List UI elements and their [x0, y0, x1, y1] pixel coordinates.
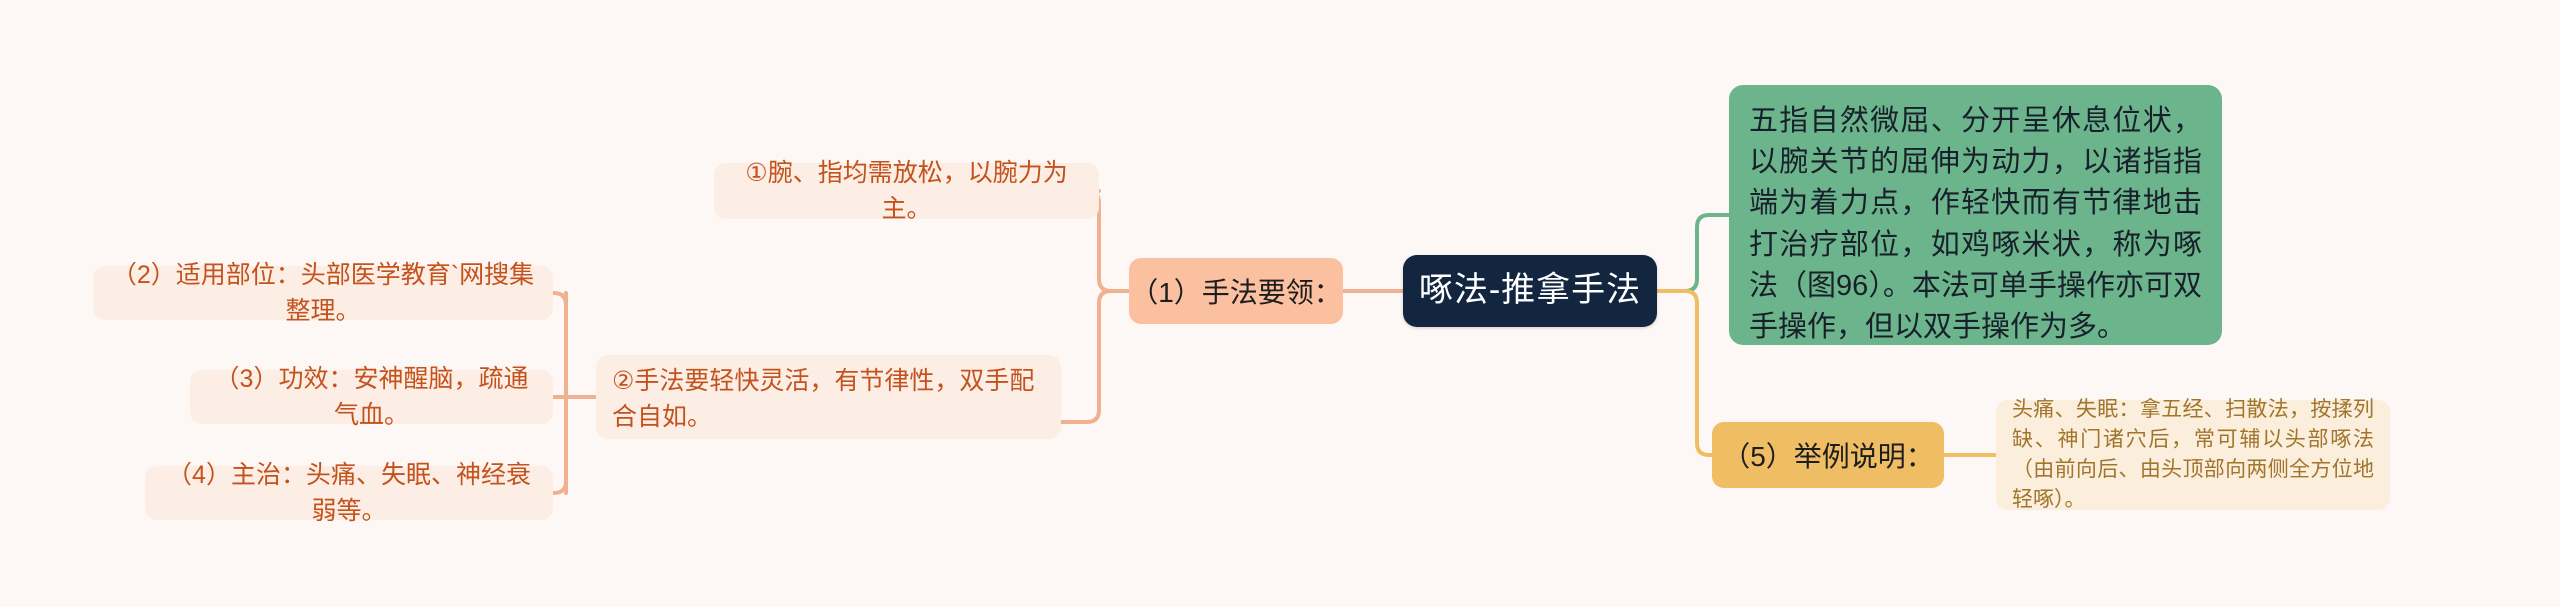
shoufa-yaoling-node[interactable]: （1）手法要领：: [1129, 258, 1343, 324]
mindmap-canvas: 啄法-推拿手法 五指自然微屈、分开呈休息位状，以腕关节的屈伸为动力，以诸指指端为…: [0, 0, 2560, 607]
gongxiao-label: （3）功效：安神醒脑，疏通气血。: [206, 361, 537, 434]
root-node[interactable]: 啄法-推拿手法: [1403, 255, 1657, 327]
connector-root-to-description: [1657, 215, 1729, 291]
connector-shoufa-to-item2: [1061, 291, 1129, 422]
connector-root-to-juli: [1657, 291, 1712, 455]
juli-shuoming-detail-node[interactable]: 头痛、失眠：拿五经、扫散法，按揉列缺、神门诸穴后，常可辅以头部啄法（由前向后、由…: [1996, 400, 2390, 510]
shiyong-buwei-node[interactable]: （2）适用部位：头部医学教育`网搜集整理。: [93, 266, 553, 320]
root-node-label: 啄法-推拿手法: [1403, 272, 1657, 309]
juli-shuoming-detail-text: 头痛、失眠：拿五经、扫散法，按揉列缺、神门诸穴后，常可辅以头部啄法（由前向后、由…: [2012, 395, 2374, 514]
connector-subtree-to-item4-zhuzhi: [553, 481, 566, 493]
shiyong-buwei-label: （2）适用部位：头部医学教育`网搜集整理。: [109, 257, 537, 330]
juli-shuoming-node[interactable]: （5）举例说明：: [1712, 422, 1944, 488]
shoufa-item-2-label: ②手法要轻快灵活，有节律性，双手配合自如。: [612, 363, 1045, 436]
gongxiao-node[interactable]: （3）功效：安神醒脑，疏通气血。: [190, 370, 553, 424]
description-node-text: 五指自然微屈、分开呈休息位状，以腕关节的屈伸为动力，以诸指指端为着力点，作轻快而…: [1749, 101, 2202, 348]
zhuzhi-label: （4）主治：头痛、失眠、神经衰弱等。: [161, 457, 537, 530]
shoufa-item-1-label: ①腕、指均需放松，以腕力为主。: [730, 155, 1083, 228]
juli-shuoming-label: （5）举例说明：: [1712, 435, 1944, 475]
shoufa-yaoling-label: （1）手法要领：: [1129, 271, 1343, 311]
zhuzhi-node[interactable]: （4）主治：头痛、失眠、神经衰弱等。: [145, 466, 553, 520]
shoufa-item-2-node[interactable]: ②手法要轻快灵活，有节律性，双手配合自如。: [596, 355, 1061, 439]
description-node[interactable]: 五指自然微屈、分开呈休息位状，以腕关节的屈伸为动力，以诸指指端为着力点，作轻快而…: [1729, 85, 2222, 345]
connector-subtree-to-item2-buwei: [553, 293, 566, 305]
shoufa-item-1-node[interactable]: ①腕、指均需放松，以腕力为主。: [714, 163, 1099, 219]
